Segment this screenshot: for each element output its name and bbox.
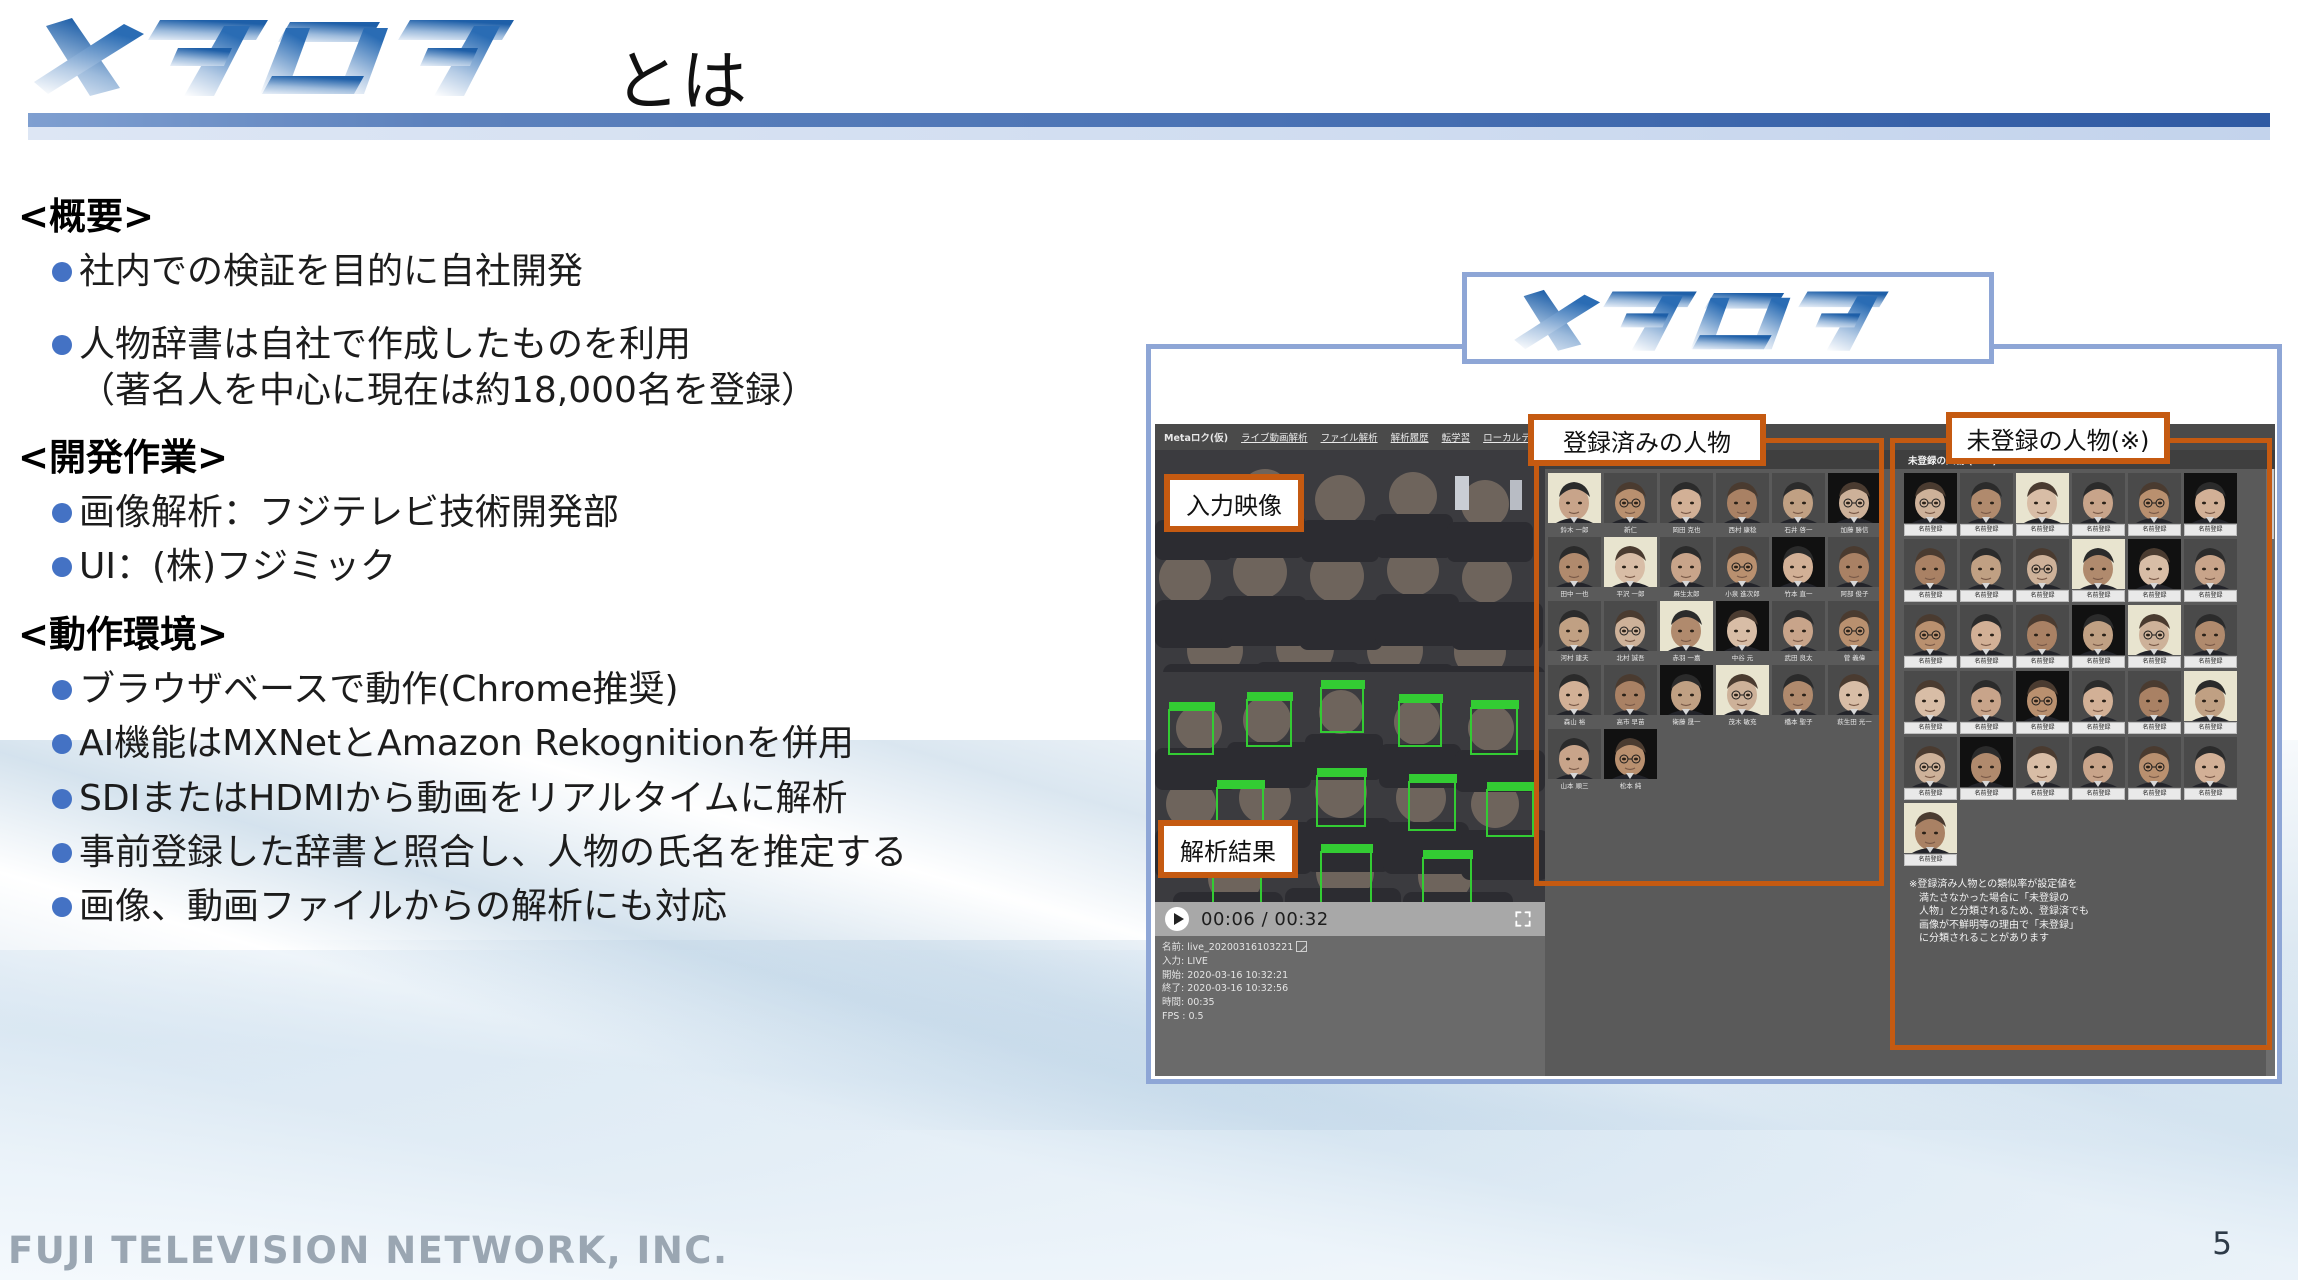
face-thumbnail[interactable] — [2072, 737, 2125, 787]
callout-unregistered-people: 未登録の人物(※) — [1946, 412, 2170, 464]
page-number: 5 — [2212, 1226, 2232, 1262]
meta-end: 終了: 2020-03-16 10:32:56 — [1162, 982, 1538, 996]
unregistered-face-cell[interactable]: 名前登録 — [2016, 737, 2069, 800]
face-thumbnail[interactable] — [2016, 671, 2069, 721]
face-thumbnail[interactable] — [2128, 737, 2181, 787]
face-name-label: 菅 義偉 — [1828, 652, 1881, 662]
menu-item-history[interactable]: 解析履歴 — [1391, 430, 1429, 444]
unregistered-face-cell[interactable]: 名前登録 — [1960, 473, 2013, 536]
face-thumbnail[interactable] — [2184, 605, 2237, 655]
edit-name-icon[interactable] — [1296, 941, 1307, 952]
registered-face-cell[interactable]: 平沢 一郎 — [1604, 537, 1657, 598]
unregistered-face-cell[interactable]: 名前登録 — [1960, 605, 2013, 668]
register-name-button[interactable]: 名前登録 — [1960, 524, 2013, 536]
unregistered-face-cell[interactable]: 名前登録 — [2072, 605, 2125, 668]
face-thumbnail[interactable] — [1960, 539, 2013, 589]
face-name-label: 石井 啓一 — [1772, 524, 1825, 534]
register-name-button[interactable]: 名前登録 — [2016, 722, 2069, 734]
bullet-text: 社内での検証を目的に自社開発 — [79, 249, 583, 294]
meta-duration: 時間: 00:35 — [1162, 996, 1538, 1010]
bullet-item: AI機能はMXNetとAmazon Rekognitionを併用 — [52, 721, 1158, 766]
menu-item-brand[interactable]: Metaロク(仮) — [1164, 430, 1228, 444]
register-name-button[interactable]: 名前登録 — [2072, 722, 2125, 734]
registered-face-cell[interactable]: 森山 裕 — [1548, 665, 1601, 726]
face-name-label: 河村 建夫 — [1548, 652, 1601, 662]
face-thumbnail[interactable] — [2072, 605, 2125, 655]
registered-face-cell[interactable]: 北村 誠吾 — [1604, 601, 1657, 662]
face-name-label: 赤羽 一嘉 — [1660, 652, 1713, 662]
registered-face-cell[interactable]: 阿部 俊子 — [1828, 537, 1881, 598]
registered-face-cell[interactable]: 西村 康稔 — [1716, 473, 1769, 534]
register-name-button[interactable]: 名前登録 — [2016, 590, 2069, 602]
bullet-text: 画像、動画ファイルからの解析にも対応 — [79, 884, 727, 929]
unregistered-face-cell[interactable]: 名前登録 — [2016, 671, 2069, 734]
face-thumbnail[interactable] — [1548, 729, 1601, 779]
meta-start: 開始: 2020-03-16 10:32:21 — [1162, 969, 1538, 983]
bullet-item: 事前登録した辞書と照合し、人物の氏名を推定する — [52, 830, 1158, 875]
unregistered-face-cell[interactable]: 名前登録 — [2072, 737, 2125, 800]
registered-face-grid: 鈴木 一郎新仁岡田 克也西村 康稔石井 啓一加藤 勝信田中 一也平沢 一郎麻生太… — [1545, 469, 1901, 794]
unregistered-face-cell[interactable]: 名前登録 — [2184, 605, 2237, 668]
face-name-label: 高市 早苗 — [1604, 716, 1657, 726]
unregistered-face-cell[interactable]: 名前登録 — [2128, 473, 2181, 536]
face-name-label: 小泉 進次郎 — [1716, 588, 1769, 598]
meta-name: 名前: live_20200316103221 — [1162, 941, 1538, 955]
face-name-label: 松本 純 — [1604, 780, 1657, 790]
register-name-button[interactable]: 名前登録 — [2072, 656, 2125, 668]
unregistered-face-cell[interactable]: 名前登録 — [1904, 473, 1957, 536]
metalog-logo-icon-small — [1498, 279, 1958, 357]
face-thumbnail[interactable] — [2016, 737, 2069, 787]
registered-people-pane: 登録済の人物 ( 26 ) 鈴木 一郎新仁岡田 克也西村 康稔石井 啓一加藤 勝… — [1545, 450, 1901, 1076]
face-thumbnail[interactable] — [1716, 665, 1769, 715]
section-heading-overview: <概要> — [18, 186, 1158, 240]
register-name-button[interactable]: 名前登録 — [2072, 590, 2125, 602]
face-name-label: 橋本 聖子 — [1772, 716, 1825, 726]
register-name-button[interactable]: 名前登録 — [2184, 722, 2237, 734]
unregistered-face-cell[interactable]: 名前登録 — [2016, 605, 2069, 668]
unregistered-face-cell[interactable]: 名前登録 — [1904, 737, 1957, 800]
register-name-button[interactable]: 名前登録 — [2184, 788, 2237, 800]
title-rule — [28, 113, 2270, 127]
face-thumbnail[interactable] — [1604, 729, 1657, 779]
app-body: 00:06 / 00:32 名前: live_20200316103221 入力… — [1155, 450, 2275, 1076]
face-thumbnail[interactable] — [1660, 537, 1713, 587]
bullet-text: UI：(株)フジミック — [79, 544, 396, 589]
unregistered-face-cell[interactable]: 名前登録 — [2072, 671, 2125, 734]
face-thumbnail[interactable] — [1828, 665, 1881, 715]
face-thumbnail[interactable] — [1904, 803, 1957, 853]
face-thumbnail[interactable] — [2184, 737, 2237, 787]
face-name-label: 鈴木 一郎 — [1548, 524, 1601, 534]
bullet-text: ブラウザベースで動作(Chrome推奨) — [79, 667, 679, 712]
unregistered-face-cell[interactable]: 名前登録 — [1904, 671, 1957, 734]
face-name-label: 平沢 一郎 — [1604, 588, 1657, 598]
face-thumbnail[interactable] — [1716, 537, 1769, 587]
face-thumbnail[interactable] — [1548, 601, 1601, 651]
face-thumbnail[interactable] — [1960, 473, 2013, 523]
face-thumbnail[interactable] — [1904, 671, 1957, 721]
register-name-button[interactable]: 名前登録 — [1904, 788, 1957, 800]
register-name-button[interactable]: 名前登録 — [2128, 656, 2181, 668]
face-thumbnail[interactable] — [1716, 601, 1769, 651]
registered-face-cell[interactable]: 田中 一也 — [1548, 537, 1601, 598]
bullet-dot-icon — [52, 335, 72, 355]
unregistered-face-cell[interactable]: 名前登録 — [1960, 539, 2013, 602]
unregistered-face-cell[interactable]: 名前登録 — [1960, 671, 2013, 734]
unregistered-face-cell[interactable]: 名前登録 — [1904, 539, 1957, 602]
face-name-label: 竹本 直一 — [1772, 588, 1825, 598]
registered-face-cell[interactable]: 河村 建夫 — [1548, 601, 1601, 662]
bullet-item: 画像解析：フジテレビ技術開発部 — [52, 490, 1158, 535]
register-name-button[interactable]: 名前登録 — [1960, 722, 2013, 734]
face-thumbnail[interactable] — [1660, 473, 1713, 523]
bullet-dot-icon — [52, 789, 72, 809]
face-thumbnail[interactable] — [1604, 665, 1657, 715]
register-name-button[interactable]: 名前登録 — [2128, 722, 2181, 734]
bullet-item: 社内での検証を目的に自社開発 — [52, 249, 1158, 294]
bullet-item: UI：(株)フジミック — [52, 544, 1158, 589]
bullet-item: 画像、動画ファイルからの解析にも対応 — [52, 884, 1158, 929]
meta-fps: FPS : 0.5 — [1162, 1010, 1538, 1024]
face-name-label: 萩生田 光一 — [1828, 716, 1881, 726]
face-name-label: 茂木 敏充 — [1716, 716, 1769, 726]
bullet-text: AI機能はMXNetとAmazon Rekognitionを併用 — [79, 721, 854, 766]
register-name-button[interactable]: 名前登録 — [2072, 524, 2125, 536]
bullet-text: 人物辞書は自社で作成したものを利用 （著名人を中心に現在は約18,000名を登録… — [79, 322, 817, 413]
meta-input: 入力: LIVE — [1162, 955, 1538, 969]
registered-face-cell[interactable]: 石井 啓一 — [1772, 473, 1825, 534]
face-thumbnail[interactable] — [1828, 473, 1881, 523]
unregistered-face-cell[interactable]: 名前登録 — [2128, 605, 2181, 668]
video-player-controls[interactable]: 00:06 / 00:32 — [1155, 902, 1545, 936]
register-name-button[interactable]: 名前登録 — [1904, 656, 1957, 668]
page-title-text: とは — [614, 28, 748, 124]
menu-item-file[interactable]: ファイル解析 — [1321, 430, 1378, 444]
callout-analysis-result: 解析結果 — [1158, 820, 1298, 878]
register-name-button[interactable]: 名前登録 — [2128, 524, 2181, 536]
face-name-label: 武田 良太 — [1772, 652, 1825, 662]
company-footer: FUJI TELEVISION NETWORK, INC. — [8, 1229, 729, 1272]
face-thumbnail[interactable] — [1772, 665, 1825, 715]
registered-face-cell[interactable]: 岡田 克也 — [1660, 473, 1713, 534]
face-name-label: 阿部 俊子 — [1828, 588, 1881, 598]
face-name-label: 中谷 元 — [1716, 652, 1769, 662]
metalog-logo-badge — [1462, 272, 1994, 364]
face-thumbnail[interactable] — [1772, 473, 1825, 523]
face-thumbnail[interactable] — [1604, 473, 1657, 523]
unregistered-face-cell[interactable]: 名前登録 — [2128, 671, 2181, 734]
face-name-label: 西村 康稔 — [1716, 524, 1769, 534]
section-heading-environment: <動作環境> — [18, 604, 1158, 658]
section-heading-development: <開発作業> — [18, 427, 1158, 481]
registered-face-cell[interactable]: 加藤 勝信 — [1828, 473, 1881, 534]
callout-input-video: 入力映像 — [1164, 474, 1304, 532]
registered-face-cell[interactable]: 中谷 元 — [1716, 601, 1769, 662]
face-thumbnail[interactable] — [2016, 539, 2069, 589]
face-thumbnail[interactable] — [2072, 473, 2125, 523]
face-thumbnail[interactable] — [1716, 473, 1769, 523]
fullscreen-icon[interactable] — [1513, 909, 1533, 929]
callout-registered-people: 登録済みの人物 — [1528, 414, 1766, 466]
registered-face-cell[interactable]: 山本 順三 — [1548, 729, 1601, 790]
menu-item-live[interactable]: ライブ動画解析 — [1241, 430, 1308, 444]
face-name-label: 岡田 克也 — [1660, 524, 1713, 534]
registered-face-cell[interactable]: 茂木 敏充 — [1716, 665, 1769, 726]
face-name-label: 森山 裕 — [1548, 716, 1601, 726]
registered-face-cell[interactable]: 萩生田 光一 — [1828, 665, 1881, 726]
bullet-dot-icon — [52, 503, 72, 523]
face-thumbnail[interactable] — [1960, 605, 2013, 655]
face-thumbnail[interactable] — [1960, 671, 2013, 721]
bullet-dot-icon — [52, 897, 72, 917]
register-name-button[interactable]: 名前登録 — [1904, 590, 1957, 602]
unregistered-face-cell[interactable]: 名前登録 — [1960, 737, 2013, 800]
register-name-button[interactable]: 名前登録 — [2184, 590, 2237, 602]
registered-face-cell[interactable]: 麻生太郎 — [1660, 537, 1713, 598]
face-thumbnail[interactable] — [1660, 601, 1713, 651]
register-name-button[interactable]: 名前登録 — [1960, 788, 2013, 800]
menu-item-transfer[interactable]: 転学習 — [1442, 430, 1471, 444]
face-thumbnail[interactable] — [1604, 537, 1657, 587]
face-thumbnail[interactable] — [1960, 737, 2013, 787]
register-name-button[interactable]: 名前登録 — [1904, 854, 1957, 866]
face-thumbnail[interactable] — [2016, 473, 2069, 523]
unregistered-face-cell[interactable]: 名前登録 — [2184, 539, 2237, 602]
bullet-item: 人物辞書は自社で作成したものを利用 （著名人を中心に現在は約18,000名を登録… — [52, 322, 1158, 413]
play-button-icon[interactable] — [1165, 907, 1189, 931]
face-name-label: 麻生太郎 — [1660, 588, 1713, 598]
unregistered-footnote: ※登録済み人物との類似率が設定値を 満たさなかった場合に「未登録の 人物」と分類… — [1901, 870, 2275, 946]
unregistered-face-grid: 名前登録名前登録名前登録名前登録名前登録名前登録名前登録名前登録名前登録名前登録… — [1901, 469, 2275, 870]
unregistered-face-cell[interactable]: 名前登録 — [2128, 737, 2181, 800]
face-name-label: 田中 一也 — [1548, 588, 1601, 598]
face-thumbnail[interactable] — [2072, 539, 2125, 589]
register-name-button[interactable]: 名前登録 — [1904, 722, 1957, 734]
metalog-app-window: Metaロク(仮) ライブ動画解析 ファイル解析 解析履歴 転学習 ローカルテス… — [1155, 424, 2275, 1076]
face-thumbnail[interactable] — [2184, 671, 2237, 721]
register-name-button[interactable]: 名前登録 — [2016, 656, 2069, 668]
face-thumbnail[interactable] — [2128, 473, 2181, 523]
face-thumbnail[interactable] — [1904, 473, 1957, 523]
unregistered-people-pane: 未登録の人物 ( 31 ) 名前登録名前登録名前登録名前登録名前登録名前登録名前… — [1901, 450, 2275, 1076]
face-thumbnail[interactable] — [2072, 671, 2125, 721]
unregistered-face-cell[interactable]: 名前登録 — [2016, 539, 2069, 602]
playback-time: 00:06 / 00:32 — [1201, 909, 1329, 930]
face-name-label: 衛藤 晟一 — [1660, 716, 1713, 726]
face-thumbnail[interactable] — [2128, 605, 2181, 655]
registered-face-cell[interactable]: 橋本 聖子 — [1772, 665, 1825, 726]
unregistered-face-cell[interactable]: 名前登録 — [1904, 605, 1957, 668]
registered-face-cell[interactable]: 菅 義偉 — [1828, 601, 1881, 662]
face-thumbnail[interactable] — [2128, 671, 2181, 721]
face-thumbnail[interactable] — [1604, 601, 1657, 651]
video-column: 00:06 / 00:32 名前: live_20200316103221 入力… — [1155, 450, 1545, 1076]
face-thumbnail[interactable] — [2184, 473, 2237, 523]
registered-face-cell[interactable]: 新仁 — [1604, 473, 1657, 534]
face-thumbnail[interactable] — [1772, 537, 1825, 587]
video-metadata: 名前: live_20200316103221 入力: LIVE 開始: 202… — [1155, 936, 1545, 1024]
face-thumbnail[interactable] — [1904, 605, 1957, 655]
face-name-label: 新仁 — [1604, 524, 1657, 534]
face-thumbnail[interactable] — [2128, 539, 2181, 589]
face-thumbnail[interactable] — [1660, 665, 1713, 715]
registered-face-cell[interactable]: 鈴木 一郎 — [1548, 473, 1601, 534]
register-name-button[interactable]: 名前登録 — [2072, 788, 2125, 800]
bullet-dot-icon — [52, 734, 72, 754]
bullet-item: SDIまたはHDMIから動画をリアルタイムに解析 — [52, 776, 1158, 821]
register-name-button[interactable]: 名前登録 — [2016, 788, 2069, 800]
register-name-button[interactable]: 名前登録 — [1960, 656, 2013, 668]
register-name-button[interactable]: 名前登録 — [2016, 524, 2069, 536]
title-rule-light — [28, 127, 2270, 140]
bullet-dot-icon — [52, 680, 72, 700]
bullet-text: 事前登録した辞書と照合し、人物の氏名を推定する — [79, 830, 907, 875]
face-thumbnail[interactable] — [1772, 601, 1825, 651]
bullet-dot-icon — [52, 557, 72, 577]
registered-face-cell[interactable]: 衛藤 晟一 — [1660, 665, 1713, 726]
unregistered-face-cell[interactable]: 名前登録 — [2128, 539, 2181, 602]
registered-face-cell[interactable]: 高市 早苗 — [1604, 665, 1657, 726]
unregistered-face-cell[interactable]: 名前登録 — [2072, 539, 2125, 602]
unregistered-face-cell[interactable]: 名前登録 — [2016, 473, 2069, 536]
registered-face-cell[interactable]: 小泉 進次郎 — [1716, 537, 1769, 598]
unregistered-face-cell[interactable]: 名前登録 — [2184, 737, 2237, 800]
face-thumbnail[interactable] — [2016, 605, 2069, 655]
face-thumbnail[interactable] — [1548, 665, 1601, 715]
face-thumbnail[interactable] — [1904, 539, 1957, 589]
face-name-label: 加藤 勝信 — [1828, 524, 1881, 534]
slide-title: とは — [28, 4, 748, 124]
bullet-item: ブラウザベースで動作(Chrome推奨) — [52, 667, 1158, 712]
bullet-dot-icon — [52, 262, 72, 282]
register-name-button[interactable]: 名前登録 — [2184, 524, 2237, 536]
register-name-button[interactable]: 名前登録 — [1904, 524, 1957, 536]
unregistered-face-cell[interactable]: 名前登録 — [2072, 473, 2125, 536]
register-name-button[interactable]: 名前登録 — [2184, 656, 2237, 668]
face-name-label: 北村 誠吾 — [1604, 652, 1657, 662]
face-thumbnail[interactable] — [1548, 537, 1601, 587]
face-thumbnail[interactable] — [1904, 737, 1957, 787]
unregistered-face-cell[interactable]: 名前登録 — [2184, 473, 2237, 536]
unregistered-face-cell[interactable]: 名前登録 — [1904, 803, 1957, 866]
registered-face-cell[interactable]: 赤羽 一嘉 — [1660, 601, 1713, 662]
registered-face-cell[interactable]: 松本 純 — [1604, 729, 1657, 790]
register-name-button[interactable]: 名前登録 — [1960, 590, 2013, 602]
registered-face-cell[interactable]: 竹本 直一 — [1772, 537, 1825, 598]
face-thumbnail[interactable] — [2184, 539, 2237, 589]
face-thumbnail[interactable] — [1828, 601, 1881, 651]
face-thumbnail[interactable] — [1548, 473, 1601, 523]
face-name-label: 山本 順三 — [1548, 780, 1601, 790]
bullet-text: SDIまたはHDMIから動画をリアルタイムに解析 — [79, 776, 848, 821]
bullet-text: 画像解析：フジテレビ技術開発部 — [79, 490, 619, 535]
bullet-dot-icon — [52, 843, 72, 863]
unregistered-scrollbar[interactable] — [2266, 469, 2275, 1076]
content-column: <概要> 社内での検証を目的に自社開発 人物辞書は自社で作成したものを利用 （著… — [18, 172, 1158, 939]
register-name-button[interactable]: 名前登録 — [2128, 590, 2181, 602]
registered-face-cell[interactable]: 武田 良太 — [1772, 601, 1825, 662]
metalog-logo-icon — [28, 4, 588, 104]
face-thumbnail[interactable] — [1828, 537, 1881, 587]
register-name-button[interactable]: 名前登録 — [2128, 788, 2181, 800]
unregistered-face-cell[interactable]: 名前登録 — [2184, 671, 2237, 734]
